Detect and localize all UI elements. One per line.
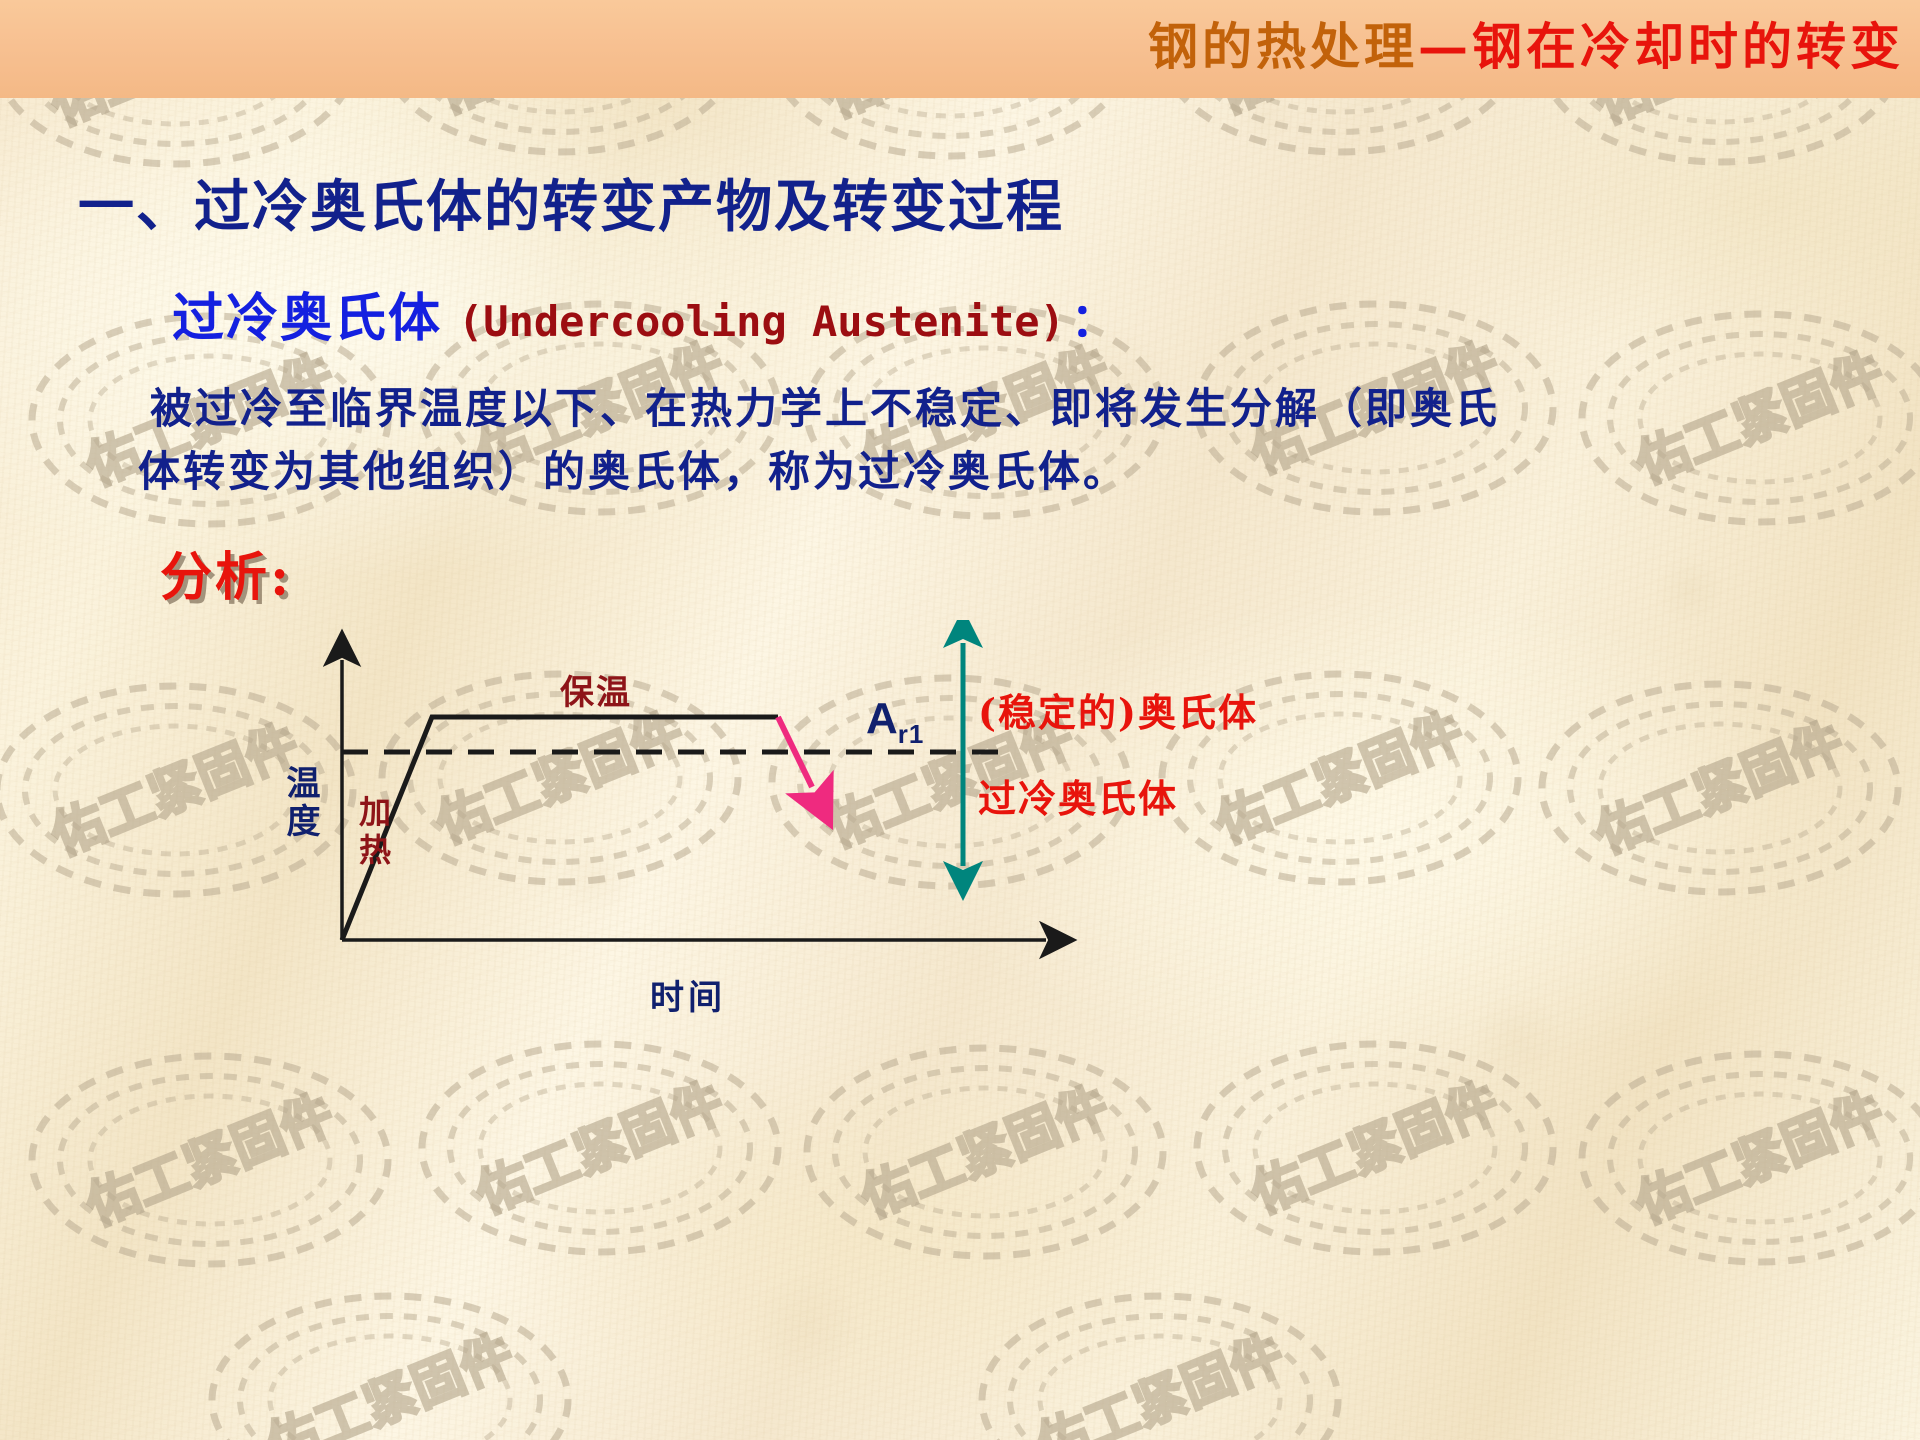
y-axis-label: 温度 xyxy=(276,765,325,841)
banner-title: 钢的热处理—钢在冷却时的转变 xyxy=(1148,8,1904,86)
header-banner: 钢的热处理—钢在冷却时的转变 xyxy=(0,0,1920,98)
heat-treatment-diagram: 保温 时间 温度 加热 Ar1 (稳定的)奥氏体 过冷奥氏体 xyxy=(0,620,1560,1040)
definition-paragraph-line-2: 体转变为其他组织）的奥氏体，称为过冷奥氏体。 xyxy=(138,438,1128,499)
diagram-svg xyxy=(0,620,1560,1040)
term-colon: ： xyxy=(1065,293,1117,347)
ar1-label: Ar1 xyxy=(866,694,924,750)
heating-label: 加热 xyxy=(350,795,396,871)
term-definition-line: 过冷奥氏体(Undercooling Austenite)： xyxy=(172,276,1117,351)
hold-label: 保温 xyxy=(560,665,632,714)
term-chinese: 过冷奥氏体 xyxy=(172,288,442,349)
banner-title-part1: 钢的热处理 xyxy=(1148,17,1418,76)
ar1-subscript: r1 xyxy=(898,719,925,749)
banner-title-part2: —钢在冷却时的转变 xyxy=(1418,17,1904,76)
x-axis-label: 时间 xyxy=(650,970,726,1019)
stable-austenite-label: (稳定的)奥氏体 xyxy=(978,682,1258,737)
analysis-label: 分析: xyxy=(160,535,292,610)
term-english: (Undercooling Austenite) xyxy=(442,297,1065,346)
undercooled-austenite-label: 过冷奥氏体 xyxy=(978,768,1178,823)
definition-paragraph-line-1: 被过冷至临界温度以下、在热力学上不稳定、即将发生分解（即奥氏 xyxy=(150,375,1500,436)
ar1-letter: A xyxy=(866,694,898,743)
section-heading: 一、过冷奥氏体的转变产物及转变过程 xyxy=(78,162,1064,243)
